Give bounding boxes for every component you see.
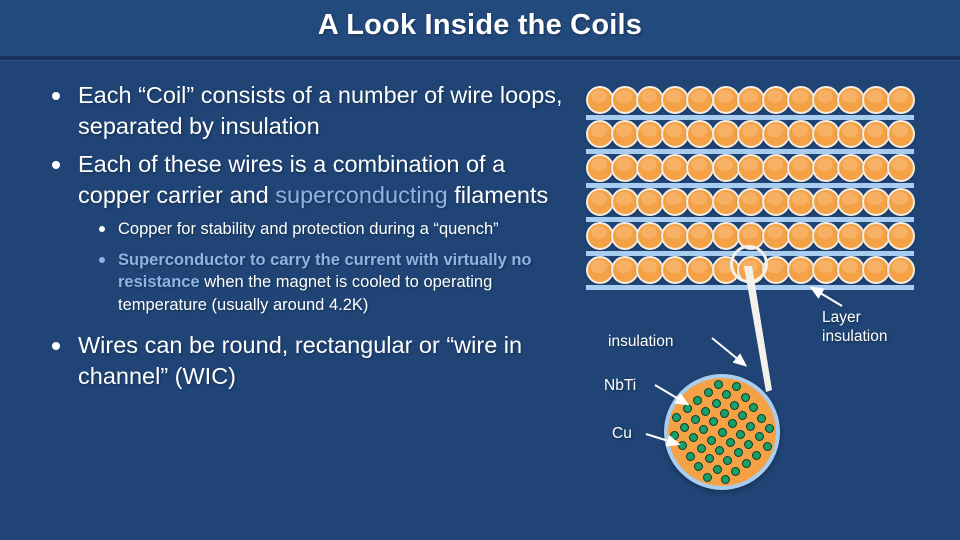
nbti-filament [703, 473, 712, 482]
coil-conductor [686, 188, 714, 216]
coil-conductor [862, 154, 890, 182]
nbti-filament [730, 401, 739, 410]
coil-conductor [586, 188, 614, 216]
coil-row [586, 86, 914, 117]
coil-conductor [686, 86, 714, 114]
coil-conductor [737, 188, 765, 216]
slide: A Look Inside the Coils Each “Coil” cons… [0, 0, 960, 540]
coil-conductor [737, 86, 765, 114]
coil-conductor [636, 154, 664, 182]
nbti-filament [670, 431, 679, 440]
nbti-filament [699, 425, 708, 434]
nbti-filament [697, 444, 706, 453]
bullet-list: Each “Coil” consists of a number of wire… [44, 80, 574, 399]
coil-conductor [661, 86, 689, 114]
bullet-dot-icon [99, 257, 105, 263]
coil-conductor [787, 222, 815, 250]
bullet-text: Wires can be round, rectangular or “wire… [78, 332, 522, 389]
nbti-filament [712, 399, 721, 408]
nbti-filament [731, 467, 740, 476]
nbti-filament [741, 393, 750, 402]
coil-conductor [762, 188, 790, 216]
coil-conductor [812, 256, 840, 284]
coil-conductor [887, 256, 915, 284]
nbti-filament [736, 430, 745, 439]
nbti-filament [693, 396, 702, 405]
bullet-dot-icon [52, 92, 60, 100]
coil-conductor [611, 188, 639, 216]
bullet-text: Each “Coil” consists of a number of wire… [78, 82, 563, 139]
coil-conductor [787, 256, 815, 284]
coil-conductor [862, 120, 890, 148]
callout-highlight-ring [730, 245, 768, 283]
coil-conductor [887, 154, 915, 182]
coil-conductor [862, 86, 890, 114]
coil-conductor [787, 86, 815, 114]
bullet-item-3: Wires can be round, rectangular or “wire… [44, 330, 574, 392]
coil-conductor [762, 86, 790, 114]
coil-conductor [586, 256, 614, 284]
nbti-filament [686, 452, 695, 461]
layer-insulation-strip [586, 285, 914, 290]
bullet-dot-icon [99, 226, 105, 232]
coil-conductor [837, 188, 865, 216]
nbti-filament [718, 428, 727, 437]
nbti-filament [763, 442, 772, 451]
nbti-filament [757, 414, 766, 423]
nbti-filament [722, 390, 731, 399]
coil-conductor [636, 256, 664, 284]
coil-conductor [837, 154, 865, 182]
label-insulation: insulation [608, 332, 674, 351]
nbti-filament [704, 388, 713, 397]
coil-conductor [812, 188, 840, 216]
coil-conductor [586, 120, 614, 148]
coil-conductor [686, 120, 714, 148]
nbti-filament [721, 475, 730, 484]
label-layer-insulation: Layer insulation [822, 308, 888, 346]
coil-conductor [712, 154, 740, 182]
coil-conductor [812, 86, 840, 114]
nbti-filament [744, 440, 753, 449]
coil-conductor [636, 222, 664, 250]
nbti-filament [680, 423, 689, 432]
nbti-filament [707, 436, 716, 445]
nbti-filament [705, 454, 714, 463]
coil-conductor [737, 154, 765, 182]
coil-conductor [762, 154, 790, 182]
coil-conductor [661, 222, 689, 250]
coil-conductor [887, 86, 915, 114]
coil-conductor [611, 154, 639, 182]
coil-conductor [611, 120, 639, 148]
coil-row [586, 154, 914, 185]
coil-row [586, 188, 914, 219]
bullet-text-accent: superconducting [275, 182, 447, 208]
coil-conductor [712, 222, 740, 250]
nbti-filament [689, 433, 698, 442]
wire-cross-section [664, 374, 780, 490]
nbti-filament [709, 417, 718, 426]
coil-conductor [812, 120, 840, 148]
bullet-dot-icon [52, 342, 60, 350]
coil-conductor [636, 120, 664, 148]
coil-conductor [686, 154, 714, 182]
coil-conductor [837, 86, 865, 114]
coil-conductor [812, 154, 840, 182]
nbti-filament [734, 448, 743, 457]
nbti-filament [678, 441, 687, 450]
label-cu: Cu [612, 424, 632, 443]
page-title: A Look Inside the Coils [0, 9, 960, 42]
nbti-filament [732, 382, 741, 391]
coil-conductor [837, 256, 865, 284]
bullet-text: filaments [448, 182, 549, 208]
coil-conductor [887, 222, 915, 250]
coil-conductor [737, 120, 765, 148]
bullet-item-1: Each “Coil” consists of a number of wire… [44, 80, 574, 142]
coil-row [586, 120, 914, 151]
coil-conductor [611, 256, 639, 284]
nbti-filament [683, 404, 692, 413]
label-nbti: NbTi [604, 376, 636, 395]
nbti-filament [691, 415, 700, 424]
nbti-filament [701, 407, 710, 416]
coil-conductor [862, 256, 890, 284]
coil-conductor [712, 86, 740, 114]
arrow-insulation [712, 338, 745, 365]
bullet-dot-icon [52, 161, 60, 169]
coil-conductor [586, 222, 614, 250]
coil-conductor [787, 120, 815, 148]
sub-bullet-item-1: Copper for stability and protection duri… [94, 218, 574, 241]
nbti-filament [749, 403, 758, 412]
nbti-filament [755, 432, 764, 441]
coil-conductor [837, 120, 865, 148]
coil-conductor [686, 256, 714, 284]
sub-bullet-list: Copper for stability and protection duri… [94, 218, 574, 316]
nbti-filament [738, 411, 747, 420]
coil-conductor [837, 222, 865, 250]
nbti-filament [713, 465, 722, 474]
nbti-filament [694, 462, 703, 471]
coil-conductor [636, 188, 664, 216]
nbti-filament [746, 422, 755, 431]
coil-conductor [686, 222, 714, 250]
nbti-filament [728, 419, 737, 428]
coil-conductor [787, 154, 815, 182]
coil-conductor [712, 188, 740, 216]
coil-conductor [887, 188, 915, 216]
nbti-filament [726, 438, 735, 447]
coil-conductor [862, 222, 890, 250]
nbti-filament [723, 456, 732, 465]
bullet-item-2: Each of these wires is a combination of … [44, 149, 574, 211]
coil-conductor [661, 120, 689, 148]
title-divider [0, 56, 960, 60]
coil-conductor [661, 256, 689, 284]
coil-conductor [812, 222, 840, 250]
nbti-filament [720, 409, 729, 418]
coil-conductor [712, 120, 740, 148]
nbti-filament [715, 446, 724, 455]
coil-conductor [787, 188, 815, 216]
coil-conductor [586, 154, 614, 182]
coil-conductor [762, 120, 790, 148]
sub-bullet-text: Copper for stability and protection duri… [118, 220, 499, 238]
coil-conductor [661, 188, 689, 216]
nbti-filament [672, 413, 681, 422]
nbti-filament [765, 424, 774, 433]
nbti-filament [742, 459, 751, 468]
nbti-filament [752, 451, 761, 460]
coil-conductor [611, 86, 639, 114]
coil-conductor [661, 154, 689, 182]
sub-bullet-item-2: Superconductor to carry the current with… [94, 249, 574, 317]
coil-conductor [636, 86, 664, 114]
coil-conductor [887, 120, 915, 148]
coil-conductor [611, 222, 639, 250]
nbti-filament [714, 380, 723, 389]
coil-conductor [586, 86, 614, 114]
coil-conductor [762, 222, 790, 250]
coil-conductor [862, 188, 890, 216]
